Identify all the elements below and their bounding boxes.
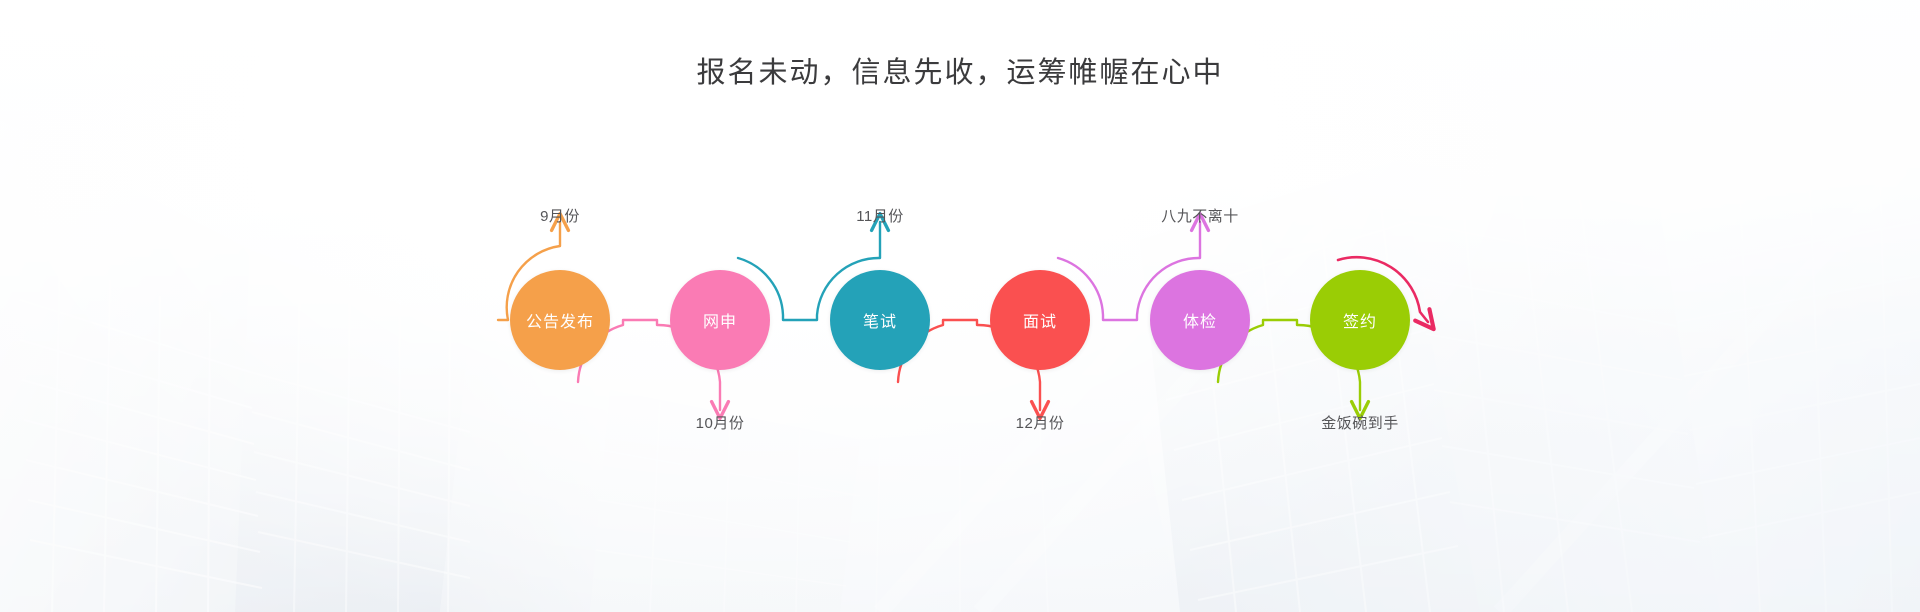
stage-caption-october: 10月份 (620, 412, 820, 433)
stage-caption-golden-job: 金饭碗到手 (1260, 412, 1460, 433)
stage-node-bishi[interactable]: 笔试 (830, 270, 930, 370)
stage-node-tijian[interactable]: 体检 (1150, 270, 1250, 370)
stage-node-mianshi[interactable]: 面试 (990, 270, 1090, 370)
flow-connectors (0, 0, 1920, 612)
stage-node-wangshen[interactable]: 网申 (670, 270, 770, 370)
stage-caption-september: 9月份 (460, 205, 660, 226)
stage-node-label: 公告发布 (526, 308, 594, 332)
stage-node-label: 签约 (1343, 308, 1377, 332)
stage-node-qianyue[interactable]: 签约 (1310, 270, 1410, 370)
stage-node-label: 体检 (1183, 308, 1217, 332)
recruitment-flow-diagram: 公告发布 网申 笔试 面试 体检 签约 9月份 10月份 11月份 12月份 八… (0, 0, 1920, 612)
stage-node-label: 网申 (703, 308, 737, 332)
stage-caption-almost-there: 八九不离十 (1100, 205, 1300, 226)
stage-node-label: 面试 (1023, 308, 1057, 332)
stage-caption-december: 12月份 (940, 412, 1140, 433)
stage-node-label: 笔试 (863, 308, 897, 332)
stage-caption-november: 11月份 (780, 205, 980, 226)
stage-node-gonggaofabu[interactable]: 公告发布 (510, 270, 610, 370)
